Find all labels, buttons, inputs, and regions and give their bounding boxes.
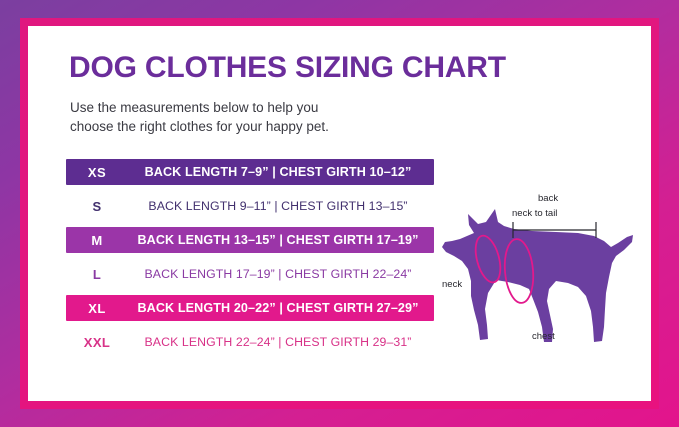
size-label-xl: XL xyxy=(66,301,128,316)
subtitle-line-1: Use the measurements below to help you xyxy=(70,98,329,117)
table-row: XS BACK LENGTH 7–9” | CHEST GIRTH 10–12” xyxy=(66,159,434,185)
page-title: DOG CLOTHES SIZING CHART xyxy=(69,51,506,85)
size-label-m: M xyxy=(66,233,128,248)
sizing-chart-poster: DOG CLOTHES SIZING CHART Use the measure… xyxy=(0,0,679,427)
size-label-xs: XS xyxy=(66,165,128,180)
size-table: XS BACK LENGTH 7–9” | CHEST GIRTH 10–12”… xyxy=(66,159,434,363)
dog-diagram: neck chest back neck to tail xyxy=(428,181,643,361)
size-measurements-xl: BACK LENGTH 20–22” | CHEST GIRTH 27–29” xyxy=(128,301,434,315)
size-measurements-xs: BACK LENGTH 7–9” | CHEST GIRTH 10–12” xyxy=(128,165,434,179)
diagram-label-back: back xyxy=(538,193,558,204)
size-measurements-s: BACK LENGTH 9–11” | CHEST GIRTH 13–15” xyxy=(128,199,434,213)
table-row: S BACK LENGTH 9–11” | CHEST GIRTH 13–15” xyxy=(66,193,434,219)
table-row: L BACK LENGTH 17–19” | CHEST GIRTH 22–24… xyxy=(66,261,434,287)
subtitle: Use the measurements below to help you c… xyxy=(70,98,329,136)
table-row: M BACK LENGTH 13–15” | CHEST GIRTH 17–19… xyxy=(66,227,434,253)
table-row: XXL BACK LENGTH 22–24” | CHEST GIRTH 29–… xyxy=(66,329,434,355)
subtitle-line-2: choose the right clothes for your happy … xyxy=(70,117,329,136)
content-panel: DOG CLOTHES SIZING CHART Use the measure… xyxy=(28,26,651,401)
size-label-xxl: XXL xyxy=(66,335,128,350)
diagram-label-chest: chest xyxy=(532,331,555,342)
diagram-label-neck: neck xyxy=(442,279,462,290)
size-measurements-l: BACK LENGTH 17–19” | CHEST GIRTH 22–24” xyxy=(128,267,434,281)
size-label-s: S xyxy=(66,199,128,214)
table-row: XL BACK LENGTH 20–22” | CHEST GIRTH 27–2… xyxy=(66,295,434,321)
size-measurements-m: BACK LENGTH 13–15” | CHEST GIRTH 17–19” xyxy=(128,233,434,247)
size-label-l: L xyxy=(66,267,128,282)
diagram-label-neck-to-tail: neck to tail xyxy=(512,208,557,219)
size-measurements-xxl: BACK LENGTH 22–24” | CHEST GIRTH 29–31” xyxy=(128,335,434,349)
